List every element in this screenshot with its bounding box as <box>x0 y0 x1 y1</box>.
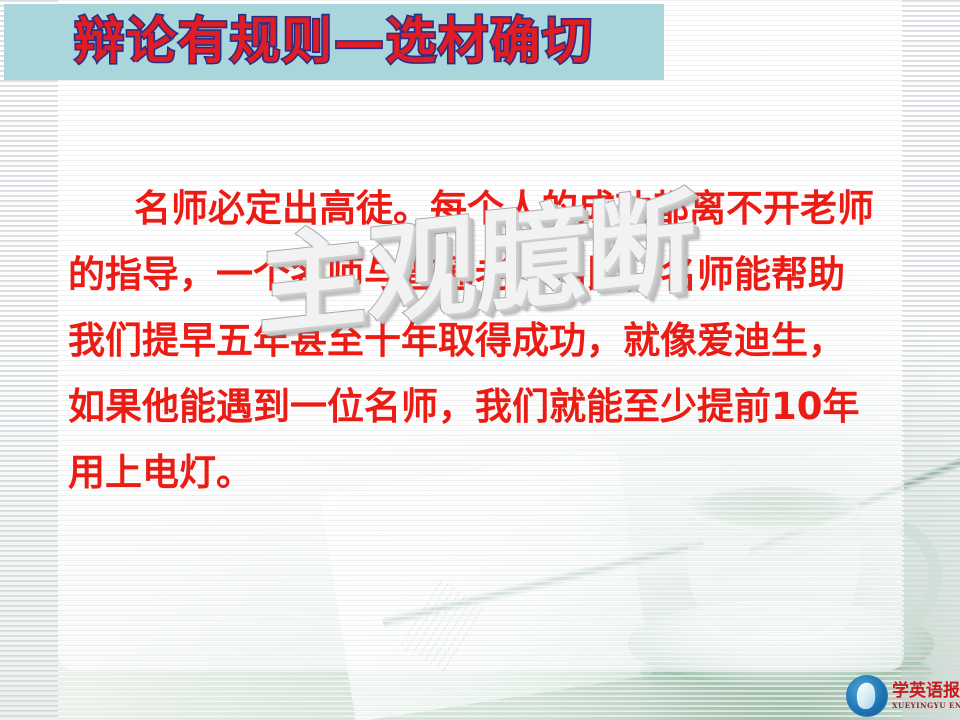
body-line-1: 名师必定出高徒。每个人的成功都离不开老师 <box>68 176 896 242</box>
body-line-5: 用上电灯。 <box>68 440 896 506</box>
slide-canvas: 辩论有规则—选材确切 名师必定出高徒。每个人的成功都离不开老师 的指导，一个名师… <box>0 0 960 720</box>
body-line-2: 的指导，一个名师与普通老师相比，名师能帮助 <box>68 242 896 308</box>
logo-english-name: XUEYINGYU ENGLISH <box>892 702 960 709</box>
logo-emblem-icon <box>846 675 888 717</box>
body-line-4: 如果他能遇到一位名师，我们就能至少提前10年 <box>68 374 896 440</box>
body-paragraph: 名师必定出高徒。每个人的成功都离不开老师 的指导，一个名师与普通老师相比，名师能… <box>68 176 896 506</box>
logo-chinese-name: 学英语报社 <box>892 683 960 700</box>
logo-wordmark: 学英语报社 XUEYINGYU ENGLISH <box>892 683 960 709</box>
title-banner: 辩论有规则—选材确切 <box>4 4 664 80</box>
body-line-3: 我们提早五年甚至十年取得成功，就像爱迪生， <box>68 308 896 374</box>
page-title: 辩论有规则—选材确切 <box>74 16 594 66</box>
publisher-logo: 学英语报社 XUEYINGYU ENGLISH <box>846 674 956 718</box>
